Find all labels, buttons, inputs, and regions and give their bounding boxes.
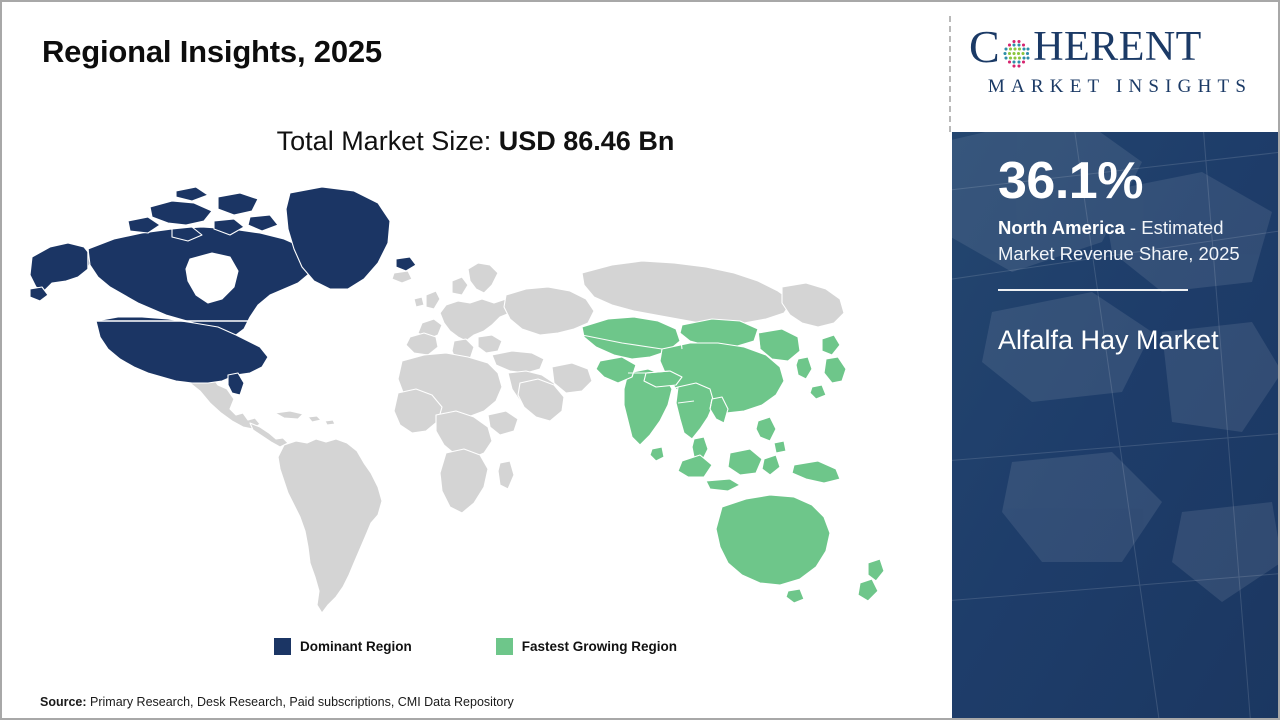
legend-label-fastest: Fastest Growing Region <box>522 639 677 654</box>
logo-subtitle: MARKET INSIGHTS <box>969 76 1269 98</box>
stat-description: North America - Estimated Market Revenue… <box>998 215 1260 268</box>
total-market-size: Total Market Size: USD 86.46 Bn <box>2 126 949 157</box>
legend-item-fastest-growing-region: Fastest Growing Region <box>496 638 677 655</box>
section-divider <box>949 16 951 132</box>
panel-divider-rule <box>998 289 1188 291</box>
stat-region-name: North America <box>998 217 1125 238</box>
legend-swatch-dominant <box>274 638 291 655</box>
source-label: Source: <box>40 695 87 709</box>
dotted-globe-icon <box>1001 35 1032 66</box>
world-map-container <box>22 177 922 627</box>
legend-label-dominant: Dominant Region <box>300 639 412 654</box>
world-map <box>22 177 922 627</box>
left-section: Regional Insights, 2025 Total Market Siz… <box>2 2 949 718</box>
logo-wordmark: C <box>969 24 1269 70</box>
source-text: Primary Research, Desk Research, Paid su… <box>87 695 514 709</box>
market-size-value: USD 86.46 Bn <box>499 126 675 156</box>
stat-panel: 36.1% North America - Estimated Market R… <box>952 132 1280 720</box>
stat-panel-content: 36.1% North America - Estimated Market R… <box>998 154 1260 359</box>
map-region-north-america <box>30 187 416 395</box>
map-region-asia-pacific <box>582 317 884 603</box>
brand-logo: C <box>955 2 1280 130</box>
market-name: Alfalfa Hay Market <box>998 321 1260 359</box>
map-legend: Dominant Region Fastest Growing Region <box>2 638 949 655</box>
logo-letter-c: C <box>969 24 1000 70</box>
infographic-frame: Regional Insights, 2025 Total Market Siz… <box>0 0 1280 720</box>
logo-wordmark-rest: HERENT <box>1033 26 1202 68</box>
market-size-label: Total Market Size: <box>277 126 492 156</box>
stat-value: 36.1% <box>998 154 1260 209</box>
legend-swatch-fastest <box>496 638 513 655</box>
source-note: Source: Primary Research, Desk Research,… <box>40 695 514 709</box>
page-title: Regional Insights, 2025 <box>42 34 382 70</box>
legend-item-dominant-region: Dominant Region <box>274 638 412 655</box>
